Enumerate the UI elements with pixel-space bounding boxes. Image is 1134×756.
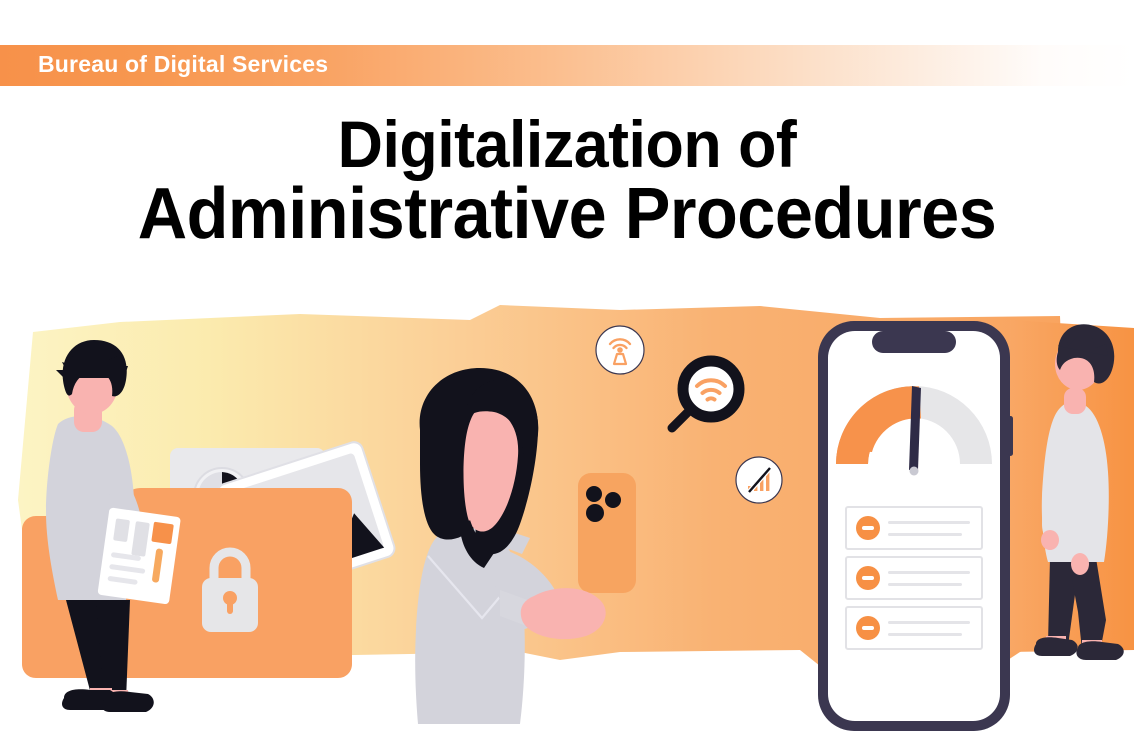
- broadcast-tower-icon: [596, 326, 644, 374]
- slide-root: Bureau of Digital Services Digitalizatio…: [0, 0, 1134, 756]
- handheld-phone: [578, 473, 636, 593]
- list-row[interactable]: [846, 557, 982, 599]
- list-row[interactable]: [846, 607, 982, 649]
- page-title: Digitalization of Administrative Procedu…: [0, 112, 1134, 249]
- page-title-line-2: Administrative Procedures: [28, 179, 1105, 250]
- organization-label: Bureau of Digital Services: [38, 51, 328, 78]
- list-row[interactable]: [846, 507, 982, 549]
- phone-mockup: [818, 321, 1013, 731]
- phone-side-button: [1008, 416, 1013, 456]
- page-title-line-1: Digitalization of: [28, 112, 1105, 177]
- camera-lens: [586, 504, 604, 522]
- held-paper-document: [97, 507, 181, 604]
- camera-lens: [586, 486, 602, 502]
- hero-illustration: [0, 300, 1134, 756]
- no-signal-bars-icon: [736, 457, 782, 503]
- camera-lens: [605, 492, 621, 508]
